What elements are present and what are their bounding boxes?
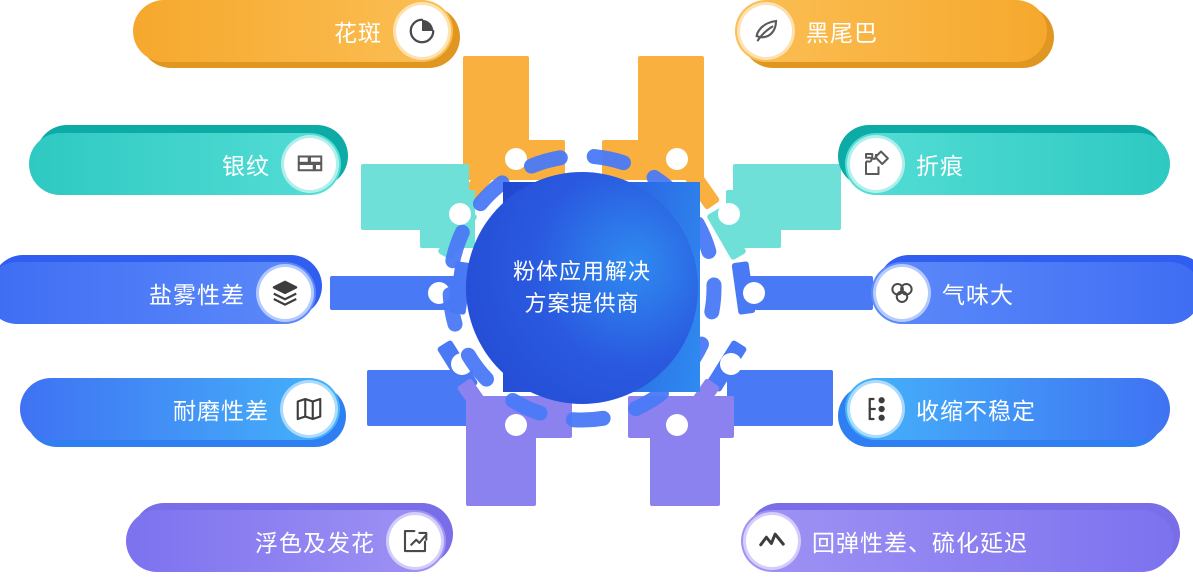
brick-wall-icon <box>284 138 336 190</box>
layers-icon <box>259 267 311 319</box>
pill-label-fu-se: 浮色及发花 <box>255 524 375 558</box>
pill-hua-ban[interactable]: 花斑 <box>133 0 453 62</box>
pill-label-yan-wu: 盐雾性差 <box>149 276 245 310</box>
pill-yin-wen[interactable]: 银纹 <box>29 133 341 195</box>
line-chart-icon <box>746 515 798 567</box>
connector-dot <box>743 282 765 304</box>
pill-label-shou-suo: 收缩不稳定 <box>916 392 1036 426</box>
infographic-canvas: 粉体应用解决 方案提供商 花斑 银纹 盐雾性差 <box>0 0 1193 577</box>
pill-shou-suo[interactable]: 收缩不稳定 <box>845 378 1170 440</box>
recycle-icon <box>876 267 928 319</box>
leaf-icon <box>740 5 792 57</box>
center-title-line2: 方案提供商 <box>524 288 639 320</box>
pill-nai-mo[interactable]: 耐磨性差 <box>20 378 340 440</box>
puzzle-icon <box>850 138 902 190</box>
center-title-line1: 粉体应用解决 <box>513 256 651 288</box>
pill-fu-se[interactable]: 浮色及发花 <box>126 510 446 572</box>
pill-label-zhe-hen: 折痕 <box>916 147 964 181</box>
pill-yan-wu[interactable]: 盐雾性差 <box>0 262 316 324</box>
pie-chart-icon <box>396 5 448 57</box>
pill-label-hua-ban: 花斑 <box>334 14 382 48</box>
node-tree-icon <box>850 383 902 435</box>
pill-label-nai-mo: 耐磨性差 <box>173 392 269 426</box>
pill-zhe-hen[interactable]: 折痕 <box>845 133 1170 195</box>
map-book-icon <box>283 383 335 435</box>
pill-qi-wei-da[interactable]: 气味大 <box>871 262 1193 324</box>
pill-label-qi-wei-da: 气味大 <box>942 276 1014 310</box>
trend-box-icon <box>389 515 441 567</box>
pill-label-yin-wen: 银纹 <box>222 147 270 181</box>
center-title: 粉体应用解决 方案提供商 <box>466 172 698 404</box>
pill-label-hei-wei-ba: 黑尾巴 <box>806 14 878 48</box>
pill-hei-wei-ba[interactable]: 黑尾巴 <box>735 0 1047 62</box>
pill-label-hui-tan: 回弹性差、硫化延迟 <box>812 524 1028 558</box>
pill-hui-tan[interactable]: 回弹性差、硫化延迟 <box>741 510 1173 572</box>
